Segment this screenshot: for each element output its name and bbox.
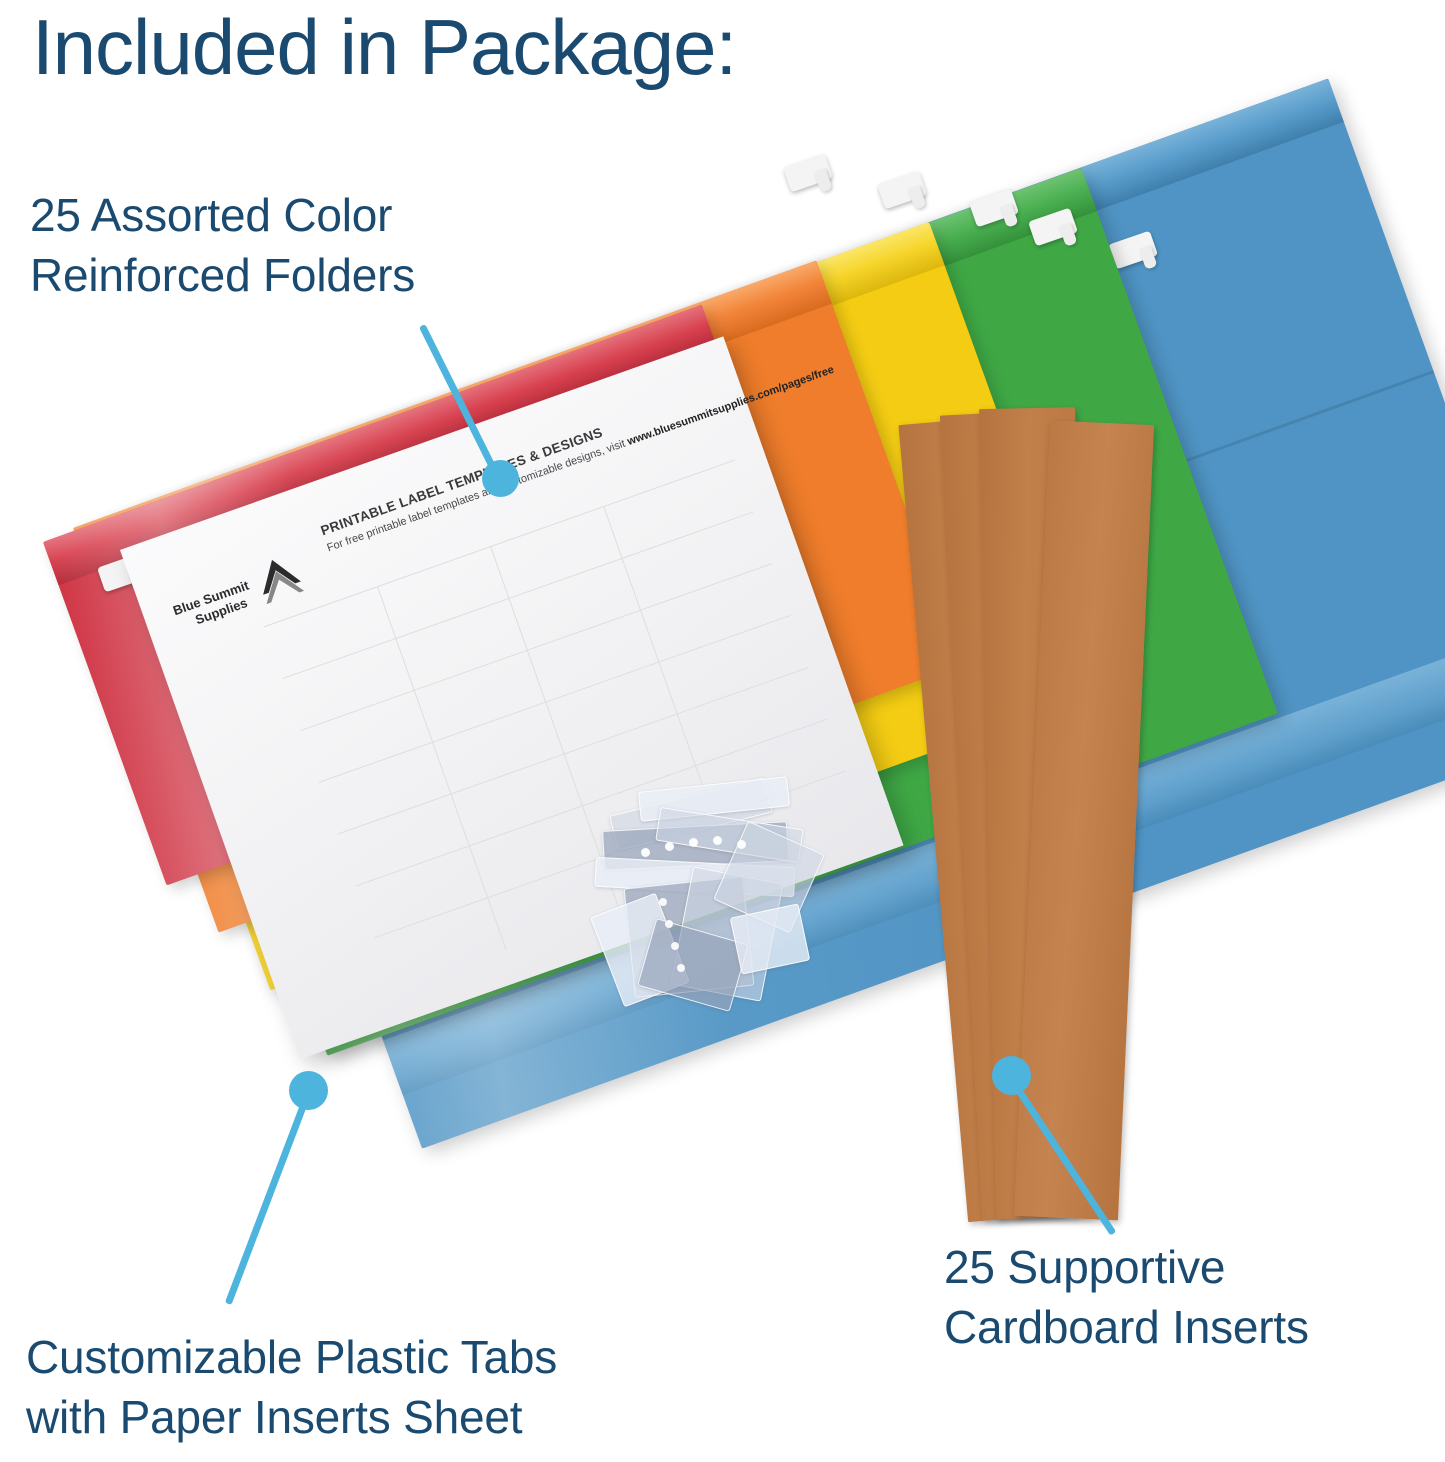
- product-photo: Blue Summit Supplies PRINTABLE LABEL TEM…: [0, 150, 1445, 1290]
- tab-highlight: [737, 840, 746, 849]
- callout-dot-cardboard: [992, 1056, 1031, 1095]
- tab-highlight: [641, 848, 650, 857]
- callout-label-plastic-tabs-line1: Customizable Plastic Tabs: [26, 1328, 786, 1388]
- callout-label-cardboard-line2: Cardboard Inserts: [944, 1298, 1444, 1358]
- callout-dot-plastic-tabs: [289, 1071, 328, 1110]
- tab-highlight: [659, 898, 667, 906]
- brand-logo: Blue Summit Supplies: [162, 534, 321, 635]
- callout-dot-folders: [482, 460, 519, 497]
- callout-label-plastic-tabs-line2: with Paper Inserts Sheet: [26, 1388, 786, 1448]
- tab-highlight: [713, 836, 722, 845]
- hook-yellow-top: [969, 189, 1019, 228]
- sheet-subtitle: For free printable label templates and c…: [325, 364, 835, 555]
- callout-label-plastic-tabs: Customizable Plastic Tabs with Paper Ins…: [26, 1328, 786, 1448]
- tab-highlight: [671, 942, 679, 950]
- hook-red-top: [783, 154, 833, 193]
- tab-highlight: [689, 838, 698, 847]
- tab-highlight: [677, 964, 685, 972]
- tab-highlight: [665, 842, 674, 851]
- tab-highlight: [665, 920, 673, 928]
- hook-orange-top: [877, 171, 927, 210]
- plastic-tabs-pile: [585, 770, 855, 1040]
- page-title: Included in Package:: [32, 2, 736, 93]
- cardboard-inserts-group: [890, 400, 1230, 1230]
